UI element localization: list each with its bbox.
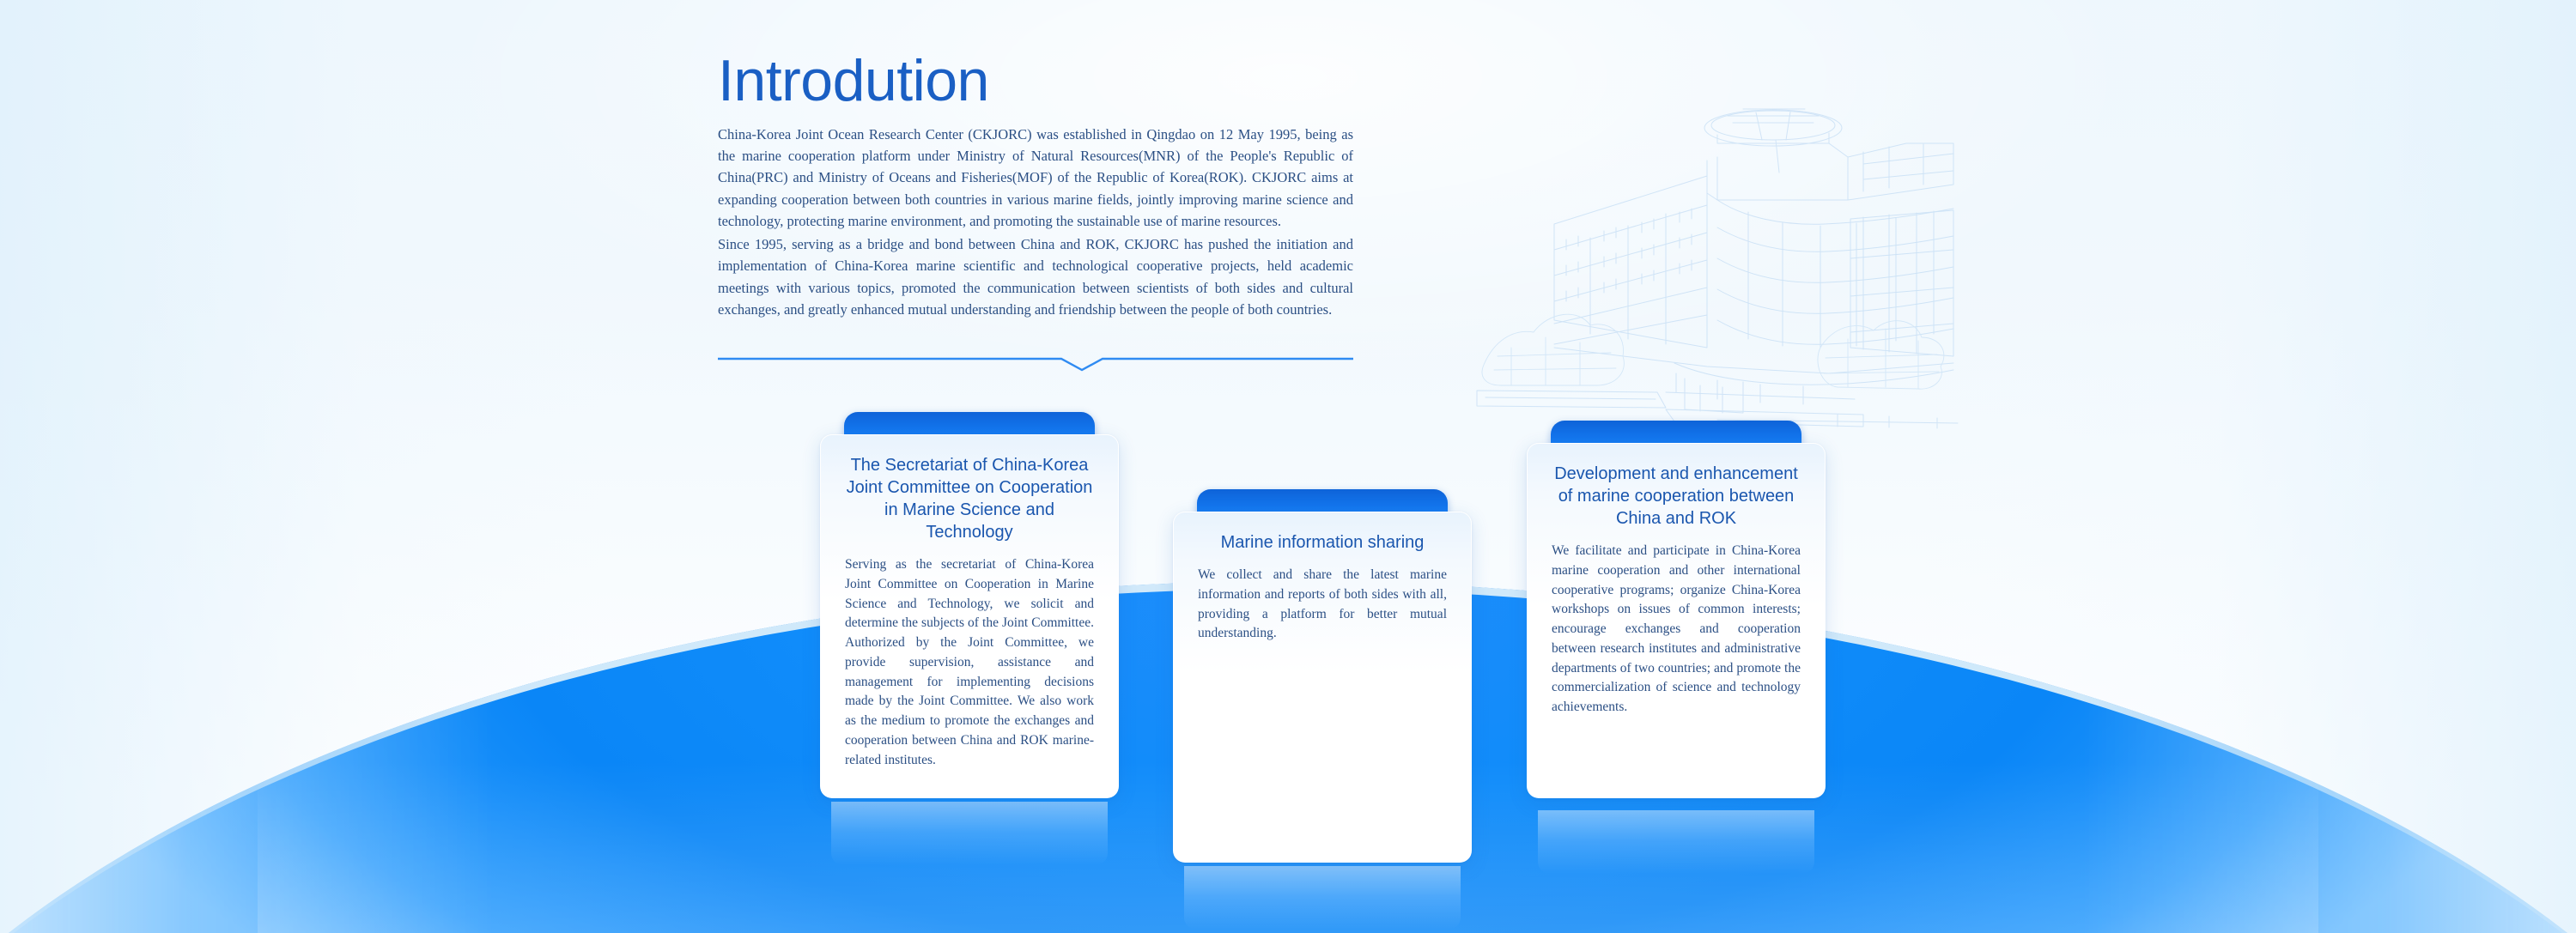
card-body: Development and enhancement of marine co… [1527,443,1826,798]
info-card-marine-information-sharing[interactable]: Marine information sharing We collect an… [1173,489,1472,863]
introduction-block: Introdution China-Korea Joint Ocean Rese… [718,51,1353,320]
card-title: The Secretariat of China-Korea Joint Com… [845,454,1094,543]
card-body: Marine information sharing We collect an… [1173,512,1472,863]
card-text: We facilitate and participate in China-K… [1552,542,1801,718]
intro-paragraph-2: Since 1995, serving as a bridge and bond… [718,233,1353,320]
card-text: We collect and share the latest marine i… [1198,566,1447,644]
intro-paragraph-1: China-Korea Joint Ocean Research Center … [718,124,1353,232]
card-title: Marine information sharing [1198,531,1447,554]
card-body: The Secretariat of China-Korea Joint Com… [820,434,1119,798]
introduction-page: Introdution China-Korea Joint Ocean Rese… [0,0,2576,933]
card-text: Serving as the secretariat of China-Kore… [845,555,1094,771]
info-card-development-and-enhancement[interactable]: Development and enhancement of marine co… [1527,421,1826,798]
page-title: Introdution [718,51,1353,110]
card-title: Development and enhancement of marine co… [1552,463,1801,530]
building-illustration [1460,90,1992,433]
section-divider [718,354,1353,374]
info-card-secretariat[interactable]: The Secretariat of China-Korea Joint Com… [820,412,1119,798]
